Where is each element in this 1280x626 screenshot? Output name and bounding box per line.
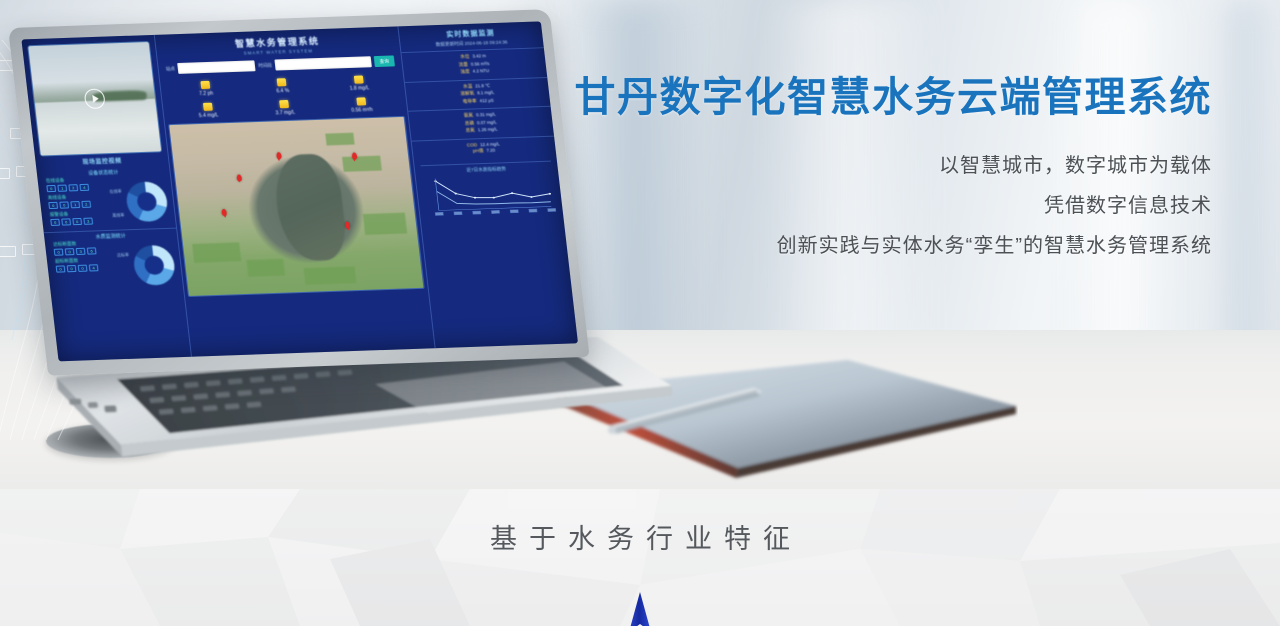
data-value: 412 μS: [479, 97, 494, 103]
laptop-lid: 现场监控视频 设备状态统计 在线设备 0 1 2 4: [8, 9, 590, 376]
digit-cell: 0: [48, 202, 58, 209]
data-value: 21.8 ℃: [475, 82, 490, 88]
date-range-input[interactable]: [274, 56, 372, 70]
digit-cell: 3: [83, 218, 93, 225]
stat-cells: 0 0 0 3: [50, 217, 111, 226]
digit-cell: 4: [89, 264, 99, 271]
hero-subtitle-1: 以智慧城市，数字城市为载体: [575, 149, 1213, 178]
digit-cell: 4: [79, 184, 89, 191]
digit-cell: 0: [46, 185, 56, 192]
satellite-map[interactable]: [169, 117, 423, 296]
data-key: 水位: [460, 54, 470, 60]
kpi-value: 3.7 mg/L: [275, 110, 295, 117]
gauge-icon: [279, 100, 289, 108]
data-key: 总氮: [465, 127, 475, 133]
kpi-card[interactable]: 3.7 mg/L: [274, 100, 295, 117]
stat-row: 报警设备 0 0 0 3: [49, 210, 111, 226]
data-value: 0.31 mg/L: [476, 112, 496, 119]
donut-label-online: 在线率: [109, 189, 122, 195]
section-heading: 基于水务行业特征: [0, 517, 1280, 556]
kpi-card[interactable]: 1.8 mg/L: [348, 75, 369, 92]
data-key: 总磷: [465, 120, 475, 126]
kpi-value: 6.4 %: [276, 88, 290, 94]
kpi-value: 5.4 mg/L: [199, 112, 219, 119]
device-status-rows: 在线设备 0 1 2 4 离线设备: [43, 176, 112, 226]
kpi-card[interactable]: 5.4 mg/L: [197, 102, 218, 119]
kpi-value: 7.2 ph: [199, 91, 214, 97]
digit-cell: 2: [81, 201, 91, 208]
hero-subtitle-2: 凭借数字信息技术: [575, 189, 1213, 218]
data-key: 浊度: [460, 69, 470, 75]
digit-cell: 0: [65, 248, 75, 255]
reservoir-polygon: [272, 154, 350, 262]
stat-row: 在线设备 0 1 2 4: [46, 176, 108, 192]
data-key: pH值: [473, 148, 484, 154]
data-value: 3.42 m: [472, 53, 486, 59]
stat-row: 离线设备 0 0 1 2: [47, 193, 109, 209]
data-key: COD: [467, 142, 478, 147]
blue-arrow-indicator: [627, 592, 653, 626]
kpi-card[interactable]: 7.2 ph: [198, 81, 214, 97]
hero-banner: 现场监控视频 设备状态统计 在线设备 0 1 2 4: [0, 0, 1280, 489]
gauge-icon: [200, 81, 210, 89]
data-value: 0.07 mg/L: [477, 119, 497, 126]
gauge-icon: [356, 97, 366, 105]
digit-cell: 0: [72, 218, 82, 225]
station-input[interactable]: [177, 60, 255, 74]
stat-cells: 0 0 0 4: [56, 264, 117, 273]
laptop-device: 现场监控视频 设备状态统计 在线设备 0 1 2 4: [8, 7, 658, 445]
data-key: 水温: [463, 83, 473, 89]
donut-label-offline: 离线率: [112, 212, 125, 218]
device-status-panel: 设备状态统计 在线设备 0 1 2 4: [36, 165, 175, 230]
data-value: 4.2 NTU: [472, 68, 489, 75]
kpi-grid: 7.2 ph 6.4 % 1.8 mg/L 5.4 mg/L: [160, 70, 407, 125]
digit-cell: 0: [61, 218, 71, 225]
date-field-label: 时间段: [258, 62, 273, 68]
dashboard-screen: 现场监控视频 设备状态统计 在线设备 0 1 2 4: [21, 21, 578, 361]
gauge-icon: [354, 75, 364, 83]
stat-row: 达标断面数 0 0 3 6: [53, 240, 115, 256]
stat-cells: 0 1 2 4: [46, 183, 107, 192]
stat-row: 超标断面数 0 0 0 4: [55, 257, 117, 273]
data-value: 8.1 mg/L: [477, 90, 495, 97]
trend-chart-plot: [421, 170, 557, 220]
page-title: 甘丹数字化智慧水务云端管理系统: [575, 74, 1213, 121]
data-key: 电导率: [462, 98, 477, 104]
kpi-value: 1.8 mg/L: [349, 85, 369, 92]
digit-cell: 0: [50, 219, 60, 226]
water-quality-rows: 达标断面数 0 0 3 6 超标断面数: [50, 240, 117, 273]
data-row: COD 12.4 mg/L pH值 7.20: [411, 135, 556, 161]
data-value: 12.4 mg/L: [480, 141, 500, 147]
map-pin-icon[interactable]: [221, 209, 227, 216]
water-quality-panel: 水质监测统计 达标断面数 0 0 3 6: [44, 228, 182, 277]
data-value: 1.26 mg/L: [478, 127, 498, 134]
stat-cells: 0 0 3 6: [54, 247, 115, 256]
digit-cell: 0: [59, 201, 69, 208]
kpi-card[interactable]: 0.56 m³/h: [350, 97, 373, 114]
digit-cell: 0: [56, 265, 66, 272]
trend-line-chart: 近7日水质指标趋势: [420, 160, 558, 226]
digit-cell: 0: [78, 265, 88, 272]
digit-cell: 0: [67, 265, 77, 272]
map-pin-icon[interactable]: [345, 222, 351, 229]
donut-label-pass: 达标率: [117, 252, 130, 258]
map-pin-icon[interactable]: [276, 152, 282, 159]
device-status-donut-chart: [125, 181, 170, 222]
search-button[interactable]: 查询: [374, 55, 395, 67]
water-quality-donut-chart: [132, 245, 177, 286]
digit-cell: 1: [57, 185, 67, 192]
stat-cells: 0 0 1 2: [48, 200, 109, 209]
digit-cell: 0: [54, 249, 64, 256]
gauge-icon: [277, 78, 287, 86]
data-key: 流量: [458, 61, 468, 67]
data-key: 氨氮: [464, 113, 474, 119]
hero-text-block: 甘丹数字化智慧水务云端管理系统 以智慧城市，数字城市为载体 凭借数字信息技术 创…: [575, 74, 1213, 258]
digit-cell: 3: [76, 248, 86, 255]
hero-subtitle-3: 创新实践与实体水务“孪生”的智慧水务管理系统: [575, 229, 1213, 258]
video-monitor-panel[interactable]: [28, 42, 161, 155]
map-pin-icon[interactable]: [351, 153, 357, 160]
dashboard-center-column: 智慧水务管理系统 SMART WATER SYSTEM 站点 时间段 查询: [154, 26, 435, 356]
kpi-value: 0.56 m³/h: [351, 107, 373, 114]
data-value: 0.56 m³/s: [471, 61, 490, 68]
kpi-card[interactable]: 6.4 %: [275, 78, 290, 94]
data-value: 7.20: [486, 148, 495, 154]
station-field-label: 站点: [165, 66, 175, 72]
gauge-icon: [203, 103, 213, 111]
data-key: 溶解氧: [460, 91, 475, 97]
digit-cell: 6: [87, 247, 97, 254]
digit-cell: 1: [70, 201, 80, 208]
map-pin-icon[interactable]: [236, 174, 242, 181]
digit-cell: 2: [68, 184, 78, 191]
